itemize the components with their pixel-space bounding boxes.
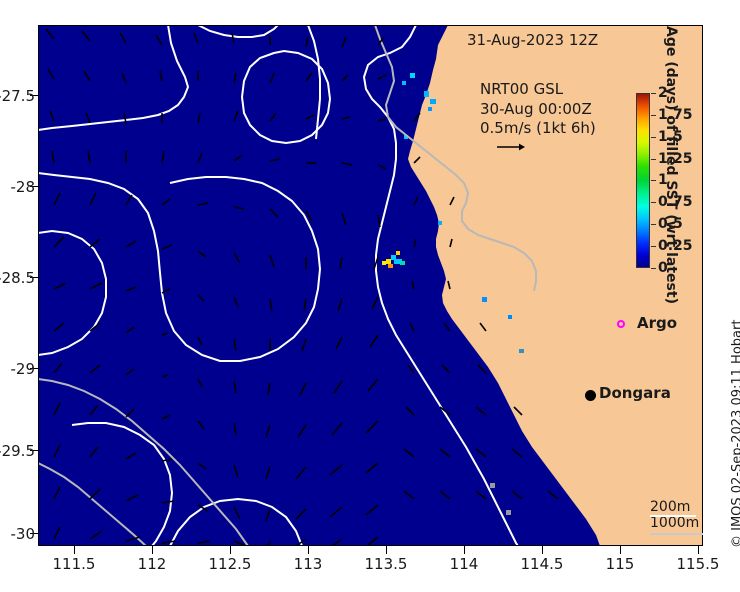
model-time-label: 30-Aug 00:00Z bbox=[480, 100, 592, 118]
x-tick-label-7: 115 bbox=[580, 555, 660, 573]
depth-200m-label: 200m bbox=[650, 499, 690, 515]
x-tick-label-0: 111.5 bbox=[34, 555, 114, 573]
colorbar-tickmark bbox=[651, 202, 656, 203]
sst-age-map bbox=[38, 25, 703, 546]
y-tick-label-5: -30 bbox=[0, 525, 35, 543]
x-tick-label-8: 115.5 bbox=[658, 555, 738, 573]
colorbar-gradient bbox=[636, 93, 650, 268]
y-tick-label-3: -29 bbox=[0, 360, 35, 378]
colorbar-title: Age (days) of filled SST (wrt latest) bbox=[663, 26, 679, 276]
colorbar-tickmark bbox=[651, 180, 656, 181]
colorbar-tickmark bbox=[651, 93, 656, 94]
x-tickmark bbox=[386, 546, 387, 554]
x-tick-label-5: 114 bbox=[424, 555, 504, 573]
x-tickmark bbox=[542, 546, 543, 554]
colorbar-tickmark bbox=[651, 246, 656, 247]
x-tickmark bbox=[230, 546, 231, 554]
x-tick-label-3: 113 bbox=[268, 555, 348, 573]
depth-1000m-label: 1000m bbox=[650, 515, 699, 531]
colorbar-tickmark bbox=[651, 115, 656, 116]
colorbar-tickmark bbox=[651, 137, 656, 138]
y-tick-label-1: -28 bbox=[0, 178, 35, 196]
model-name-label: NRT00 GSL bbox=[480, 80, 563, 98]
x-tick-label-4: 113.5 bbox=[346, 555, 426, 573]
depth-1000m-line-sample bbox=[650, 533, 703, 535]
x-tickmark bbox=[308, 546, 309, 554]
x-tick-label-1: 112 bbox=[112, 555, 192, 573]
x-tickmark bbox=[74, 546, 75, 554]
copyright-notice: © IMOS 02-Sep-2023 09:11 Hobart bbox=[730, 320, 740, 548]
colorbar-tickmark bbox=[651, 159, 656, 160]
x-tickmark bbox=[464, 546, 465, 554]
map-plot-area[interactable]: 31-Aug-2023 12Z NRT00 GSL 30-Aug 00:00Z … bbox=[38, 25, 703, 546]
x-tick-label-2: 112.5 bbox=[190, 555, 270, 573]
dongara-label: Dongara bbox=[599, 384, 671, 402]
y-tick-label-2: -28.5 bbox=[0, 269, 35, 287]
dongara-city-marker bbox=[585, 390, 596, 401]
depth-200m-line-sample bbox=[650, 515, 696, 517]
colorbar-tickmark bbox=[651, 224, 656, 225]
x-tickmark bbox=[152, 546, 153, 554]
reference-vector-arrow bbox=[497, 142, 525, 152]
x-tick-label-6: 114.5 bbox=[502, 555, 582, 573]
x-tickmark bbox=[698, 546, 699, 554]
argo-legend-label: Argo bbox=[637, 314, 677, 332]
vector-scale-label: 0.5m/s (1kt 6h) bbox=[480, 119, 596, 137]
x-tickmark bbox=[620, 546, 621, 554]
y-tick-label-0: -27.5 bbox=[0, 87, 35, 105]
y-tick-label-4: -29.5 bbox=[0, 442, 35, 460]
colorbar[interactable] bbox=[636, 93, 650, 268]
date-stamp: 31-Aug-2023 12Z bbox=[467, 31, 598, 49]
colorbar-tickmark bbox=[651, 268, 656, 269]
argo-marker-icon bbox=[617, 320, 625, 328]
